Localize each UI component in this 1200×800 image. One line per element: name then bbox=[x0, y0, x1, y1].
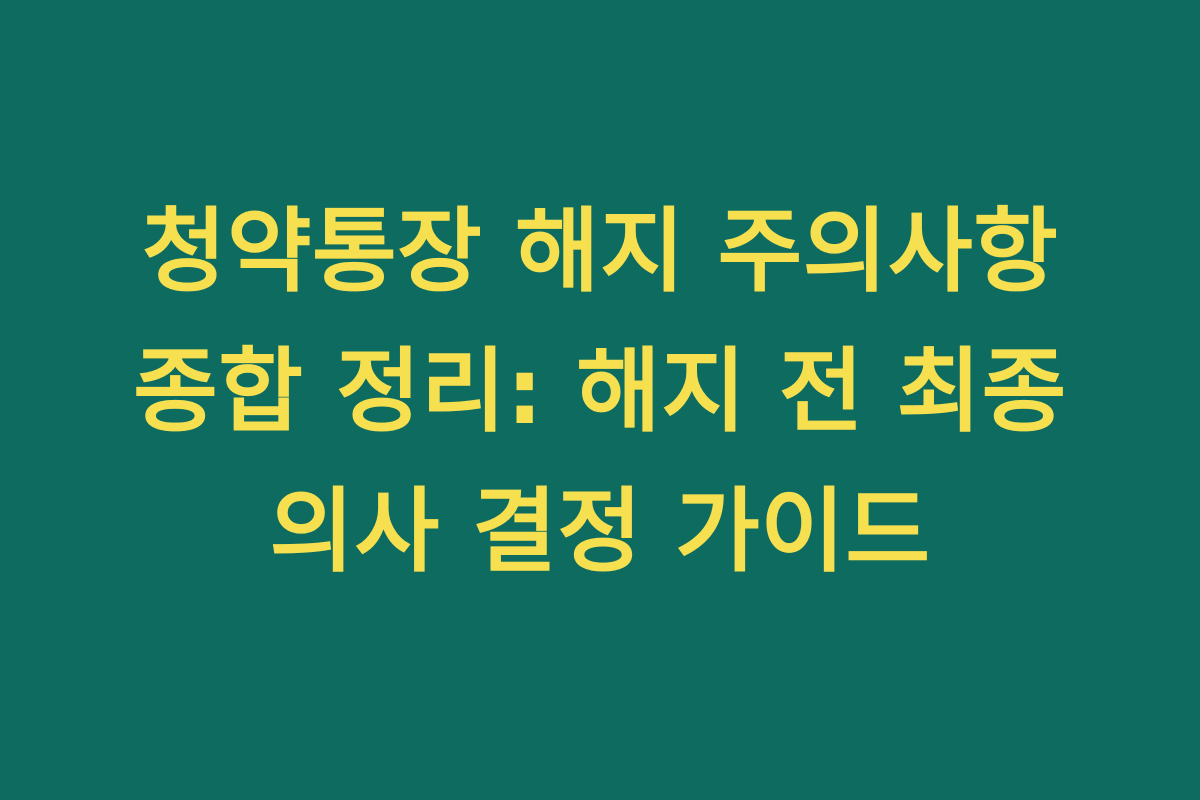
page-title: 청약통장 해지 주의사항 종합 정리: 해지 전 최종 의사 결정 가이드 bbox=[70, 182, 1130, 602]
title-line-2: 종합 정리: 해지 전 최종 bbox=[70, 322, 1130, 462]
thumbnail-banner: 청약통장 해지 주의사항 종합 정리: 해지 전 최종 의사 결정 가이드 bbox=[0, 0, 1200, 800]
title-line-3: 의사 결정 가이드 bbox=[70, 462, 1130, 602]
title-line-1: 청약통장 해지 주의사항 bbox=[70, 182, 1130, 322]
